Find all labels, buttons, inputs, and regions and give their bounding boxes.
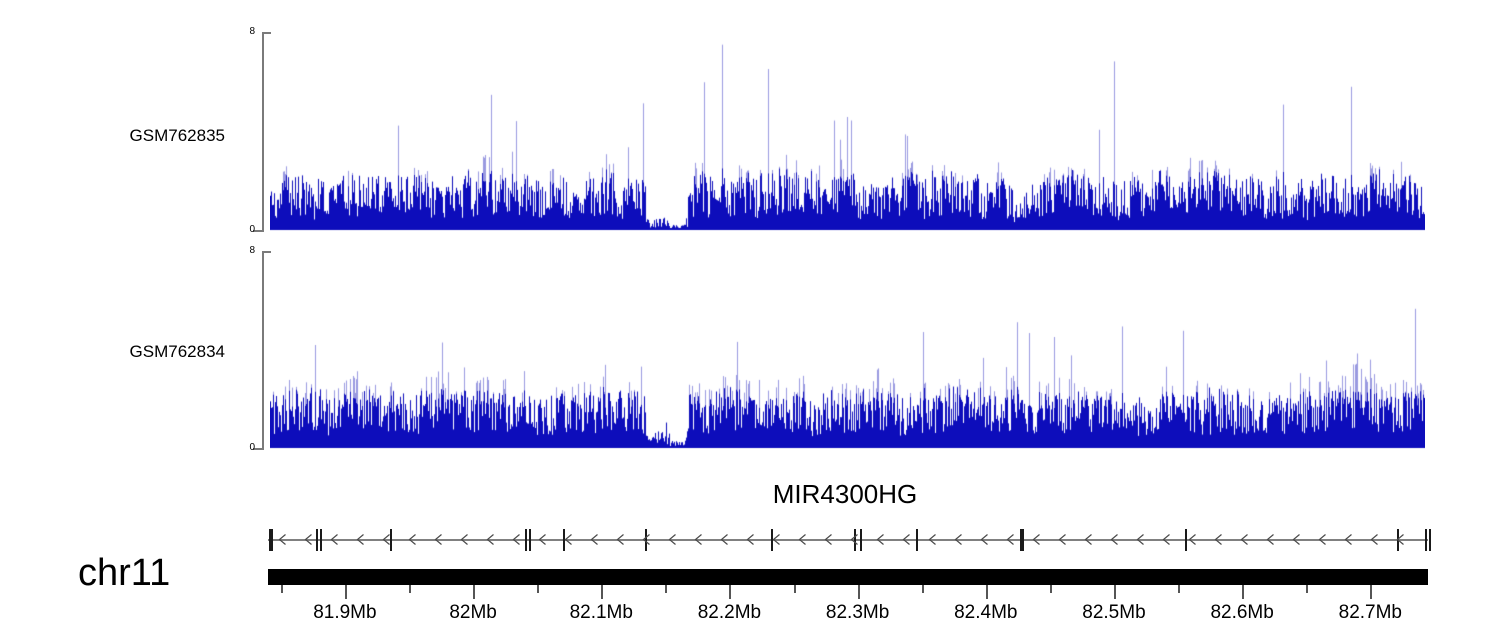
gene-name-label: MIR4300HG bbox=[595, 479, 1095, 510]
gene-exon-mark bbox=[1429, 529, 1431, 551]
gene-strand-arrow-icon bbox=[1058, 534, 1067, 545]
gene-strand-arrow-icon bbox=[460, 534, 469, 545]
ruler-minor-tick bbox=[922, 585, 924, 593]
ruler-major-tick bbox=[986, 585, 988, 599]
gene-strand-arrow-icon bbox=[1188, 534, 1197, 545]
gene-exon-mark bbox=[525, 529, 527, 551]
gene-strand-arrow-icon bbox=[590, 534, 599, 545]
gene-exon-mark bbox=[529, 529, 531, 551]
gene-strand-arrow-icon bbox=[746, 534, 755, 545]
ruler-major-tick bbox=[601, 585, 603, 599]
gene-strand-arrow-icon bbox=[850, 534, 859, 545]
gene-exon-mark bbox=[860, 529, 862, 551]
gene-strand-arrow-icon bbox=[1396, 534, 1405, 545]
gene-strand-arrow-icon bbox=[382, 534, 391, 545]
gene-model-track[interactable] bbox=[268, 525, 1428, 555]
ruler-major-tick bbox=[1114, 585, 1116, 599]
ruler-major-tick bbox=[1242, 585, 1244, 599]
gene-strand-arrow-icon bbox=[954, 534, 963, 545]
ruler-minor-tick bbox=[281, 585, 283, 593]
ruler-tick-label: 82.6Mb bbox=[1182, 602, 1302, 624]
gene-strand-arrow-icon bbox=[1162, 534, 1171, 545]
gene-exon-mark bbox=[1185, 529, 1187, 551]
gene-strand-arrow-icon bbox=[798, 534, 807, 545]
gene-strand-arrow-icon bbox=[694, 534, 703, 545]
gene-exon-mark bbox=[1022, 529, 1024, 551]
ruler-tick-label: 82.4Mb bbox=[926, 602, 1046, 624]
gene-strand-arrow-icon bbox=[408, 534, 417, 545]
ruler-minor-tick bbox=[665, 585, 667, 593]
ruler-tick-label: 82Mb bbox=[413, 602, 533, 624]
gene-strand-arrow-icon bbox=[1214, 534, 1223, 545]
ruler-major-tick bbox=[1370, 585, 1372, 599]
gene-strand-arrow-icon bbox=[1032, 534, 1041, 545]
gene-exon-mark bbox=[916, 529, 918, 551]
gene-exon-mark bbox=[320, 529, 322, 551]
gene-exon-mark bbox=[316, 529, 318, 551]
ruler-minor-tick bbox=[1306, 585, 1308, 593]
chromosome-ideogram-bar[interactable] bbox=[268, 569, 1428, 585]
ruler-tick-label: 82.5Mb bbox=[1054, 602, 1174, 624]
gene-strand-arrow-icon bbox=[1370, 534, 1379, 545]
gene-strand-arrow-icon bbox=[356, 534, 365, 545]
gene-strand-arrow-icon bbox=[616, 534, 625, 545]
coverage-track-gsm762834: GSM762834 8 0 bbox=[0, 0, 1500, 460]
ruler-minor-tick bbox=[794, 585, 796, 593]
gene-strand-arrow-icon bbox=[1292, 534, 1301, 545]
coverage-canvas-gsm762834[interactable] bbox=[270, 249, 1425, 450]
gene-strand-arrow-icon bbox=[902, 534, 911, 545]
gene-strand-arrow-icon bbox=[304, 534, 313, 545]
gene-strand-arrow-icon bbox=[720, 534, 729, 545]
ruler-major-tick bbox=[729, 585, 731, 599]
gene-strand-arrow-icon bbox=[1266, 534, 1275, 545]
ruler-tick-label: 82.1Mb bbox=[541, 602, 661, 624]
coverage-plot-gsm762834[interactable] bbox=[270, 249, 1425, 450]
y-axis-line bbox=[262, 251, 264, 450]
gene-strand-arrow-icon bbox=[486, 534, 495, 545]
ruler-major-tick bbox=[473, 585, 475, 599]
ruler-minor-tick bbox=[1050, 585, 1052, 593]
gene-strand-arrow-icon bbox=[564, 534, 573, 545]
gene-exon-mark bbox=[1425, 529, 1427, 551]
gene-strand-arrow-icon bbox=[772, 534, 781, 545]
gene-strand-arrow-icon bbox=[1240, 534, 1249, 545]
gene-strand-arrow-icon bbox=[980, 534, 989, 545]
ruler-minor-tick bbox=[409, 585, 411, 593]
ruler-minor-tick bbox=[537, 585, 539, 593]
chromosome-ruler: 81.9Mb82Mb82.1Mb82.2Mb82.3Mb82.4Mb82.5Mb… bbox=[0, 585, 1500, 640]
gene-strand-arrow-icon bbox=[512, 534, 521, 545]
gene-strand-arrow-icon bbox=[1344, 534, 1353, 545]
ruler-tick-label: 82.7Mb bbox=[1310, 602, 1430, 624]
gene-exon-mark bbox=[271, 529, 273, 551]
gene-strand-arrow-icon bbox=[876, 534, 885, 545]
gene-strand-arrow-icon bbox=[642, 534, 651, 545]
gene-strand-arrow-icon bbox=[1084, 534, 1093, 545]
gene-strand-arrow-icon bbox=[1318, 534, 1327, 545]
ruler-tick-label: 82.3Mb bbox=[798, 602, 918, 624]
gene-strand-arrow-icon bbox=[330, 534, 339, 545]
gene-strand-arrow-icon bbox=[824, 534, 833, 545]
ruler-tick-label: 82.2Mb bbox=[669, 602, 789, 624]
ruler-major-tick bbox=[345, 585, 347, 599]
ruler-minor-tick bbox=[1178, 585, 1180, 593]
y-axis-max-label-gsm762834: 8 bbox=[233, 245, 255, 256]
ruler-major-tick bbox=[858, 585, 860, 599]
gene-strand-arrow-icon bbox=[434, 534, 443, 545]
gene-strand-arrow-icon bbox=[928, 534, 937, 545]
gene-strand-arrow-icon bbox=[538, 534, 547, 545]
gene-strand-arrow-icon bbox=[1136, 534, 1145, 545]
y-axis-min-label-gsm762834: 0 bbox=[233, 442, 255, 453]
track-label-gsm762834: GSM762834 bbox=[45, 342, 225, 362]
ruler-tick-label: 81.9Mb bbox=[285, 602, 405, 624]
genome-browser-figure: GSM762835 8 0 GSM762834 8 0 MIR4300HG bbox=[0, 0, 1500, 640]
gene-strand-arrow-icon bbox=[1006, 534, 1015, 545]
gene-strand-arrow-icon bbox=[278, 534, 287, 545]
gene-strand-arrow-icon bbox=[1110, 534, 1119, 545]
gene-strand-arrow-icon bbox=[668, 534, 677, 545]
